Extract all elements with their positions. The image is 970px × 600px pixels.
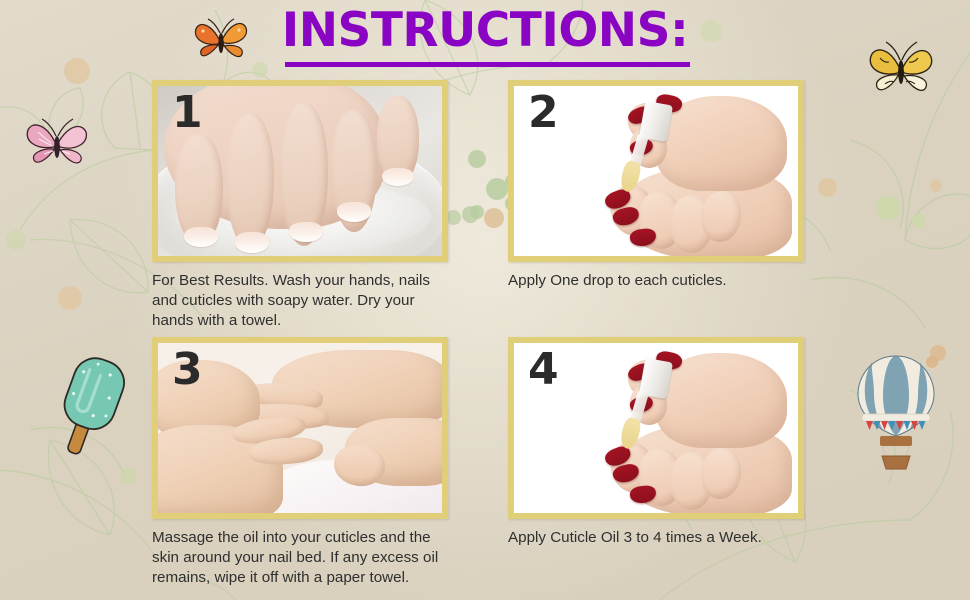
background-dot: [120, 468, 136, 484]
background-dot: [486, 178, 508, 200]
background-gradient: [0, 0, 970, 600]
background-dot: [818, 178, 837, 197]
step-3-image-frame: 3: [152, 337, 448, 519]
step-1-caption: For Best Results. Wash your hands, nails…: [152, 271, 452, 331]
pink-butterfly-icon: [24, 112, 90, 174]
step-card-1: 1 For Best Results. Wash your hands, nai…: [152, 80, 452, 331]
title-underline: [285, 62, 690, 67]
background-dot: [252, 62, 268, 78]
step-2-caption: Apply One drop to each cuticles.: [508, 271, 808, 291]
step-number-4: 4: [528, 347, 559, 393]
step-number-3: 3: [172, 347, 203, 393]
background-dot: [930, 180, 942, 192]
step-1-image-frame: 1: [152, 80, 448, 262]
background-dot: [876, 196, 900, 220]
background-texture: [0, 0, 970, 600]
step-number-2: 2: [528, 90, 559, 136]
hot-air-balloon-icon: [850, 352, 942, 470]
step-card-4: 4 Apply Cuticle Oil 3 to 4 times a Week.: [508, 337, 808, 548]
page-title: INSTRUCTIONS:: [276, 6, 695, 55]
background-dot: [912, 214, 926, 228]
step-4-caption: Apply Cuticle Oil 3 to 4 times a Week.: [508, 528, 808, 548]
background-dot: [6, 230, 26, 250]
popsicle-icon: [50, 352, 130, 462]
step-3-caption: Massage the oil into your cuticles and t…: [152, 528, 452, 588]
background-dot: [64, 58, 90, 84]
step-4-image-frame: 4: [508, 337, 804, 519]
step-2-image-frame: 2: [508, 80, 804, 262]
step-card-2: 2 Apply One drop to each cuticles.: [508, 80, 808, 291]
background-dot: [484, 208, 504, 228]
instructions-poster: INSTRUCTIONS:: [0, 0, 970, 600]
step-number-1: 1: [172, 90, 203, 136]
step-card-3: 3 Massage the oil into your cuticles and…: [152, 337, 452, 588]
background-dot: [462, 206, 479, 223]
poster-title-container: INSTRUCTIONS:: [0, 6, 970, 55]
background-dot: [468, 150, 486, 168]
background-dot: [58, 286, 82, 310]
background-dot: [470, 205, 484, 219]
